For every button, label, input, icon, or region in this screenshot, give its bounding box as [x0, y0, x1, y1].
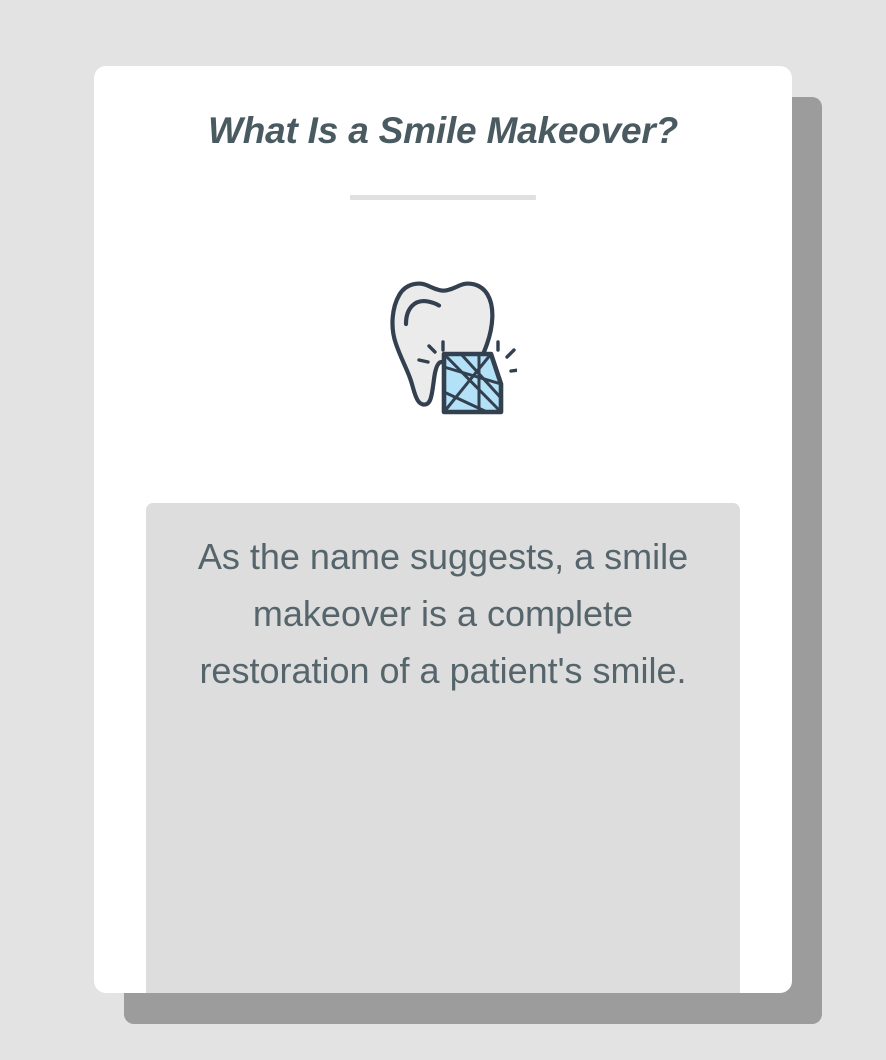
title-divider [350, 195, 536, 200]
diamond-gem [444, 354, 501, 412]
tooth-with-diamond-icon [369, 272, 517, 420]
slide-stage: What Is a Smile Makeover? [0, 0, 886, 1060]
body-text: As the name suggests, a smile makeover i… [182, 528, 704, 699]
page-title: What Is a Smile Makeover? [94, 108, 792, 154]
content-card: What Is a Smile Makeover? [94, 66, 792, 993]
body-text-panel: As the name suggests, a smile makeover i… [146, 503, 740, 993]
sparkle-right [498, 342, 517, 371]
